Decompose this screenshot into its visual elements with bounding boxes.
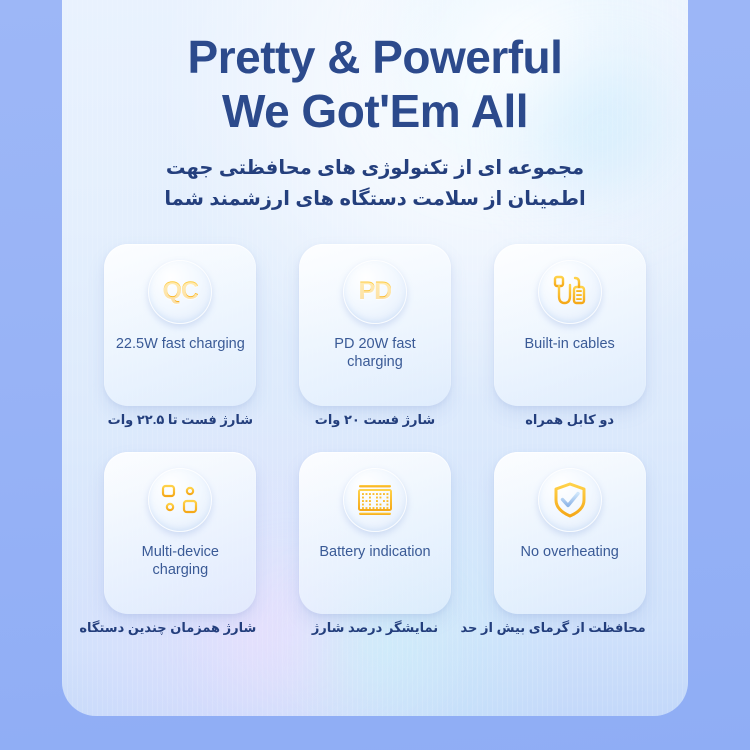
icon-disc bbox=[538, 468, 602, 532]
led-display-icon bbox=[354, 483, 396, 517]
feature-label-fa: محافظت از گرمای بیش از حد bbox=[494, 620, 646, 636]
qc-badge-icon: QC bbox=[163, 277, 199, 306]
feature-label-en: Multi-device charging bbox=[104, 543, 256, 580]
feature-card: No overheating محافظت از گرمای بیش از حد bbox=[494, 452, 646, 614]
icon-disc: PD bbox=[343, 260, 407, 324]
feature-label-en: Battery indication bbox=[311, 543, 438, 562]
glass-panel: Pretty & Powerful We Got'Em All مجموعه ا… bbox=[62, 0, 688, 716]
product-feature-poster: Pretty & Powerful We Got'Em All مجموعه ا… bbox=[0, 0, 750, 750]
icon-disc bbox=[148, 468, 212, 532]
icon-disc bbox=[538, 260, 602, 324]
feature-label-en: No overheating bbox=[512, 543, 626, 562]
headline-line-2: We Got'Em All bbox=[62, 84, 688, 138]
subtitle: مجموعه ای از تکنولوژی های محافظتی جهت اط… bbox=[62, 153, 688, 216]
icon-disc bbox=[343, 468, 407, 532]
feature-card: Multi-device charging شارژ همزمان چندین … bbox=[104, 452, 256, 614]
feature-grid: QC 22.5W fast charging شارژ فست تا ۲۲.۵ … bbox=[91, 244, 659, 614]
headline-line-1: Pretty & Powerful bbox=[188, 31, 563, 83]
feature-label-en: Built-in cables bbox=[517, 335, 623, 354]
icon-disc: QC bbox=[148, 260, 212, 324]
subtitle-line-1: مجموعه ای از تکنولوژی های محافظتی جهت bbox=[62, 153, 688, 185]
feature-label-fa: شارژ همزمان چندین دستگاه bbox=[104, 620, 256, 636]
feature-card: QC 22.5W fast charging شارژ فست تا ۲۲.۵ … bbox=[104, 244, 256, 406]
feature-label-fa: شارژ فست ۲۰ وات bbox=[299, 412, 451, 428]
feature-label-fa: شارژ فست تا ۲۲.۵ وات bbox=[104, 412, 256, 428]
feature-card: Battery indication نمایشگر درصد شارژ bbox=[299, 452, 451, 614]
feature-label-fa: نمایشگر درصد شارژ bbox=[299, 620, 451, 636]
feature-label-en: 22.5W fast charging bbox=[108, 335, 253, 354]
page-title: Pretty & Powerful We Got'Em All bbox=[62, 30, 688, 139]
feature-label-en: PD 20W fast charging bbox=[299, 335, 451, 372]
feature-label-fa: دو کابل همراه bbox=[494, 412, 646, 428]
pd-badge-icon: PD bbox=[359, 277, 392, 306]
built-in-cables-icon bbox=[550, 274, 590, 310]
feature-card: Built-in cables دو کابل همراه bbox=[494, 244, 646, 406]
multi-device-network-icon bbox=[160, 482, 200, 518]
shield-check-icon bbox=[551, 481, 589, 519]
feature-card: PD PD 20W fast charging شارژ فست ۲۰ وات bbox=[299, 244, 451, 406]
subtitle-line-2: اطمینان از سلامت دستگاه های ارزشمند شما bbox=[62, 184, 688, 216]
